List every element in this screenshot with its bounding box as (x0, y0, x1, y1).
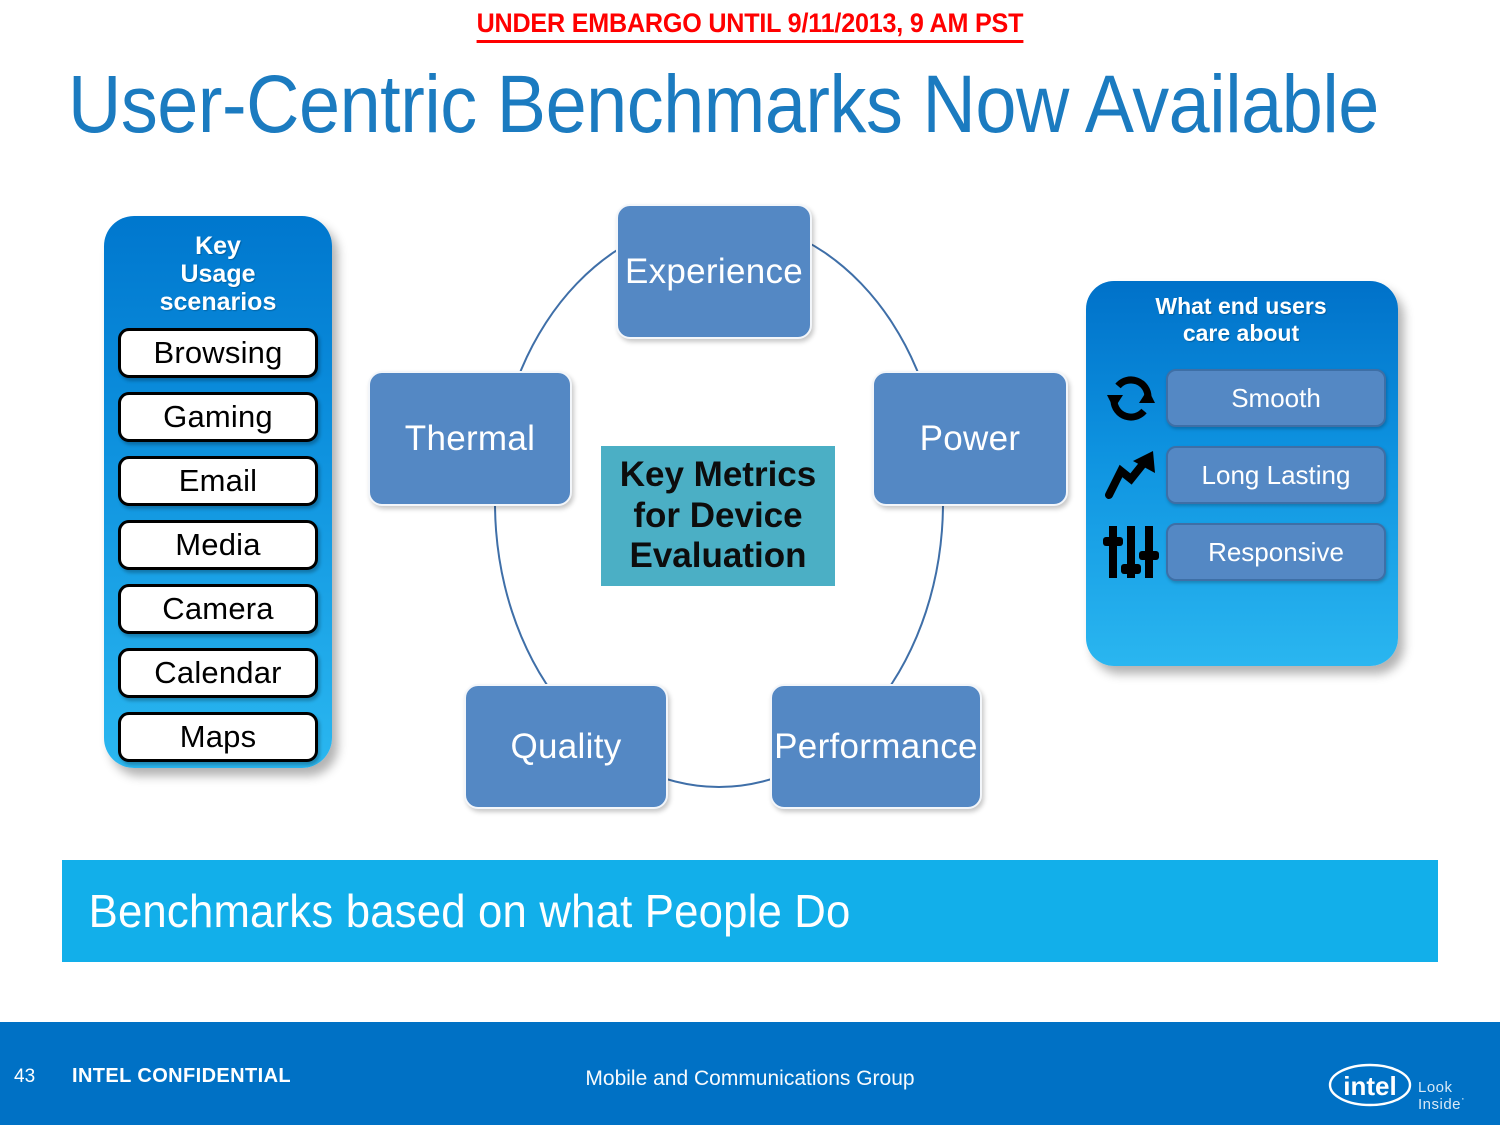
intel-logo-mark: intel (1328, 1062, 1412, 1108)
left-panel-title-line1: Key (118, 232, 318, 260)
refresh-cycle-icon (1096, 367, 1166, 429)
svg-text:intel: intel (1343, 1071, 1396, 1101)
scenario-label: Camera (162, 591, 273, 627)
slide-footer: 43 INTEL CONFIDENTIAL Mobile and Communi… (0, 1022, 1500, 1125)
scenario-item-maps: Maps (118, 712, 318, 762)
care-item-long-lasting: Long Lasting (1166, 446, 1386, 504)
care-item-responsive: Responsive (1166, 523, 1386, 581)
left-panel-title: Key Usage scenarios (118, 232, 318, 316)
right-panel-title-line2: care about (1096, 320, 1386, 347)
cycle-node-experience: Experience (616, 204, 812, 339)
scenario-label: Browsing (153, 335, 282, 371)
scenario-item-gaming: Gaming (118, 392, 318, 442)
cycle-node-label: Thermal (405, 419, 535, 459)
care-row-smooth: Smooth (1096, 369, 1386, 427)
cycle-node-label: Power (920, 419, 1021, 459)
sliders-icon (1096, 521, 1166, 583)
scenario-item-camera: Camera (118, 584, 318, 634)
takeaway-banner: Benchmarks based on what People Do (62, 860, 1438, 962)
scenario-item-calendar: Calendar (118, 648, 318, 698)
center-label-line3: Evaluation (601, 536, 835, 577)
center-label-line1: Key Metrics (601, 455, 835, 496)
scenario-label: Maps (180, 719, 257, 755)
key-usage-scenarios-panel: Key Usage scenarios Browsing Gaming Emai… (104, 216, 332, 768)
embargo-text: UNDER EMBARGO UNTIL 9/11/2013, 9 AM PST (477, 8, 1024, 43)
page-title: User-Centric Benchmarks Now Available (68, 62, 1292, 148)
intel-logo: intel Look Inside˙ (1322, 1062, 1492, 1112)
scenario-label: Calendar (154, 655, 281, 691)
trending-up-arrow-icon (1096, 444, 1166, 506)
scenario-label: Gaming (163, 399, 273, 435)
right-panel-title-line1: What end users (1096, 293, 1386, 320)
takeaway-banner-text: Benchmarks based on what People Do (62, 884, 851, 938)
scenario-item-email: Email (118, 456, 318, 506)
embargo-notice: UNDER EMBARGO UNTIL 9/11/2013, 9 AM PST (0, 8, 1500, 43)
care-item-label: Long Lasting (1202, 460, 1351, 491)
cycle-node-power: Power (872, 371, 1068, 506)
cycle-node-label: Experience (625, 252, 803, 292)
care-item-smooth: Smooth (1166, 369, 1386, 427)
right-panel-title: What end users care about (1096, 293, 1386, 347)
slide: UNDER EMBARGO UNTIL 9/11/2013, 9 AM PST … (0, 0, 1500, 1125)
scenario-label: Email (179, 463, 258, 499)
left-panel-title-line3: scenarios (118, 288, 318, 316)
cycle-node-label: Performance (774, 727, 978, 767)
care-item-label: Smooth (1231, 383, 1321, 414)
cycle-node-label: Quality (510, 727, 621, 767)
scenario-item-media: Media (118, 520, 318, 570)
center-label-line2: for Device (601, 496, 835, 537)
end-user-care-panel: What end users care about Smooth (1086, 281, 1398, 666)
cycle-node-performance: Performance (770, 684, 982, 809)
cycle-node-thermal: Thermal (368, 371, 572, 506)
care-row-long-lasting: Long Lasting (1096, 446, 1386, 504)
scenario-item-browsing: Browsing (118, 328, 318, 378)
key-metrics-cycle-diagram: Experience Power Performance Quality The… (360, 190, 1080, 820)
scenario-label: Media (175, 527, 260, 563)
intel-logo-tagline: Look Inside˙ (1418, 1079, 1492, 1113)
left-panel-title-line2: Usage (118, 260, 318, 288)
cycle-center-label: Key Metrics for Device Evaluation (601, 446, 835, 586)
footer-group-name: Mobile and Communications Group (0, 1067, 1500, 1091)
care-item-label: Responsive (1208, 537, 1344, 568)
cycle-node-quality: Quality (464, 684, 668, 809)
care-row-responsive: Responsive (1096, 523, 1386, 581)
